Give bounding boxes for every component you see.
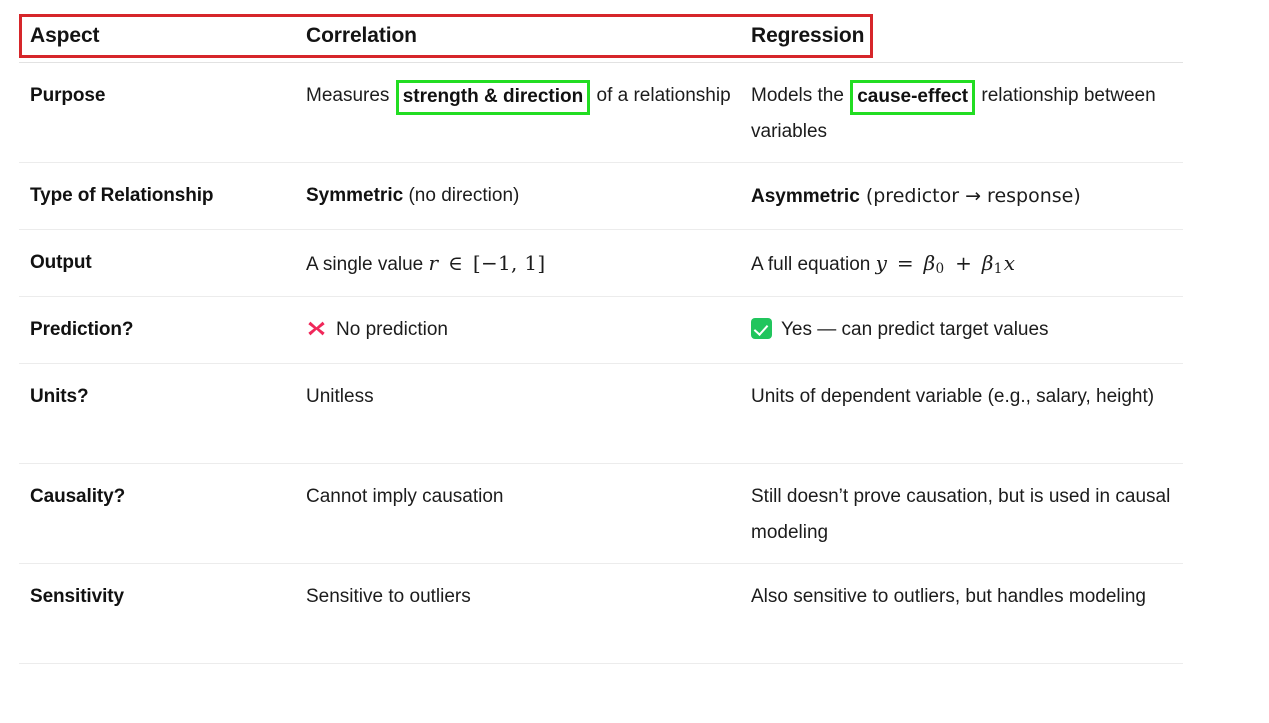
text-pre: Measures [306,85,395,106]
cell-correlation-type: Symmetric (no direction) [306,178,736,214]
math-regression-equation: y = β0 + β1x [876,251,1016,275]
row-label-prediction: Prediction? [30,312,300,348]
table-row: Output A single value r ∈ [−1, 1] A full… [19,230,1183,297]
table-row: Prediction? No prediction Yes — can pred… [19,297,1183,364]
cell-correlation-prediction: No prediction [306,312,736,348]
table-row: Units? Unitless Units of dependent varia… [19,364,1183,464]
cell-correlation-purpose: Measures strength & direction of a relat… [306,78,736,114]
cell-regression-sensitivity: Also sensitive to outliers, but handles … [751,579,1183,615]
cross-mark-icon [306,318,327,339]
page-root: Aspect Correlation Regression Purpose Me… [0,0,1269,723]
text-bold: Asymmetric [751,186,860,207]
cell-regression-units: Units of dependent variable (e.g., salar… [751,379,1183,415]
cell-correlation-sensitivity: Sensitive to outliers [306,579,736,615]
cell-correlation-units: Unitless [306,379,736,415]
cell-regression-causality: Still doesn’t prove causation, but is us… [751,479,1183,551]
row-label-causality: Causality? [30,479,300,515]
cell-regression-type: Asymmetric (predictor → response) [751,178,1183,215]
check-mark-button-icon [751,318,772,339]
row-label-output: Output [30,245,300,281]
text-yes-prediction: Yes — can predict target values [781,319,1049,340]
table-row: Purpose Measures strength & direction of… [19,63,1183,163]
header-red-highlight-box [19,14,873,58]
table-row: Causality? Cannot imply causation Still … [19,464,1183,564]
text-lead: A single value [306,254,429,275]
text-rest: (no direction) [403,185,519,206]
table-row: Sensitivity Sensitive to outliers Also s… [19,564,1183,664]
row-label-units: Units? [30,379,300,415]
row-label-type-of-relationship: Type of Relationship [30,178,300,214]
math-correlation-range: r ∈ [−1, 1] [429,251,546,275]
table-header-row: Aspect Correlation Regression [19,12,1183,63]
row-label-purpose: Purpose [30,78,300,114]
text-post: of a relationship [591,85,730,106]
cell-regression-output: A full equation y = β0 + β1x [751,245,1183,287]
column-header-regression: Regression [751,25,864,46]
text-no-prediction: No prediction [336,319,448,340]
column-header-aspect: Aspect [30,25,99,46]
comparison-table: Aspect Correlation Regression Purpose Me… [19,12,1183,664]
text-lead: A full equation [751,254,876,275]
text-rest: (predictor → response) [860,185,1081,207]
cell-correlation-output: A single value r ∈ [−1, 1] [306,245,736,283]
cell-regression-prediction: Yes — can predict target values [751,312,1183,348]
text-bold: Symmetric [306,185,403,206]
table-row: Type of Relationship Symmetric (no direc… [19,163,1183,230]
highlight-cause-effect: cause-effect [850,80,975,115]
row-label-sensitivity: Sensitivity [30,579,300,615]
highlight-strength-direction: strength & direction [396,80,591,115]
cell-correlation-causality: Cannot imply causation [306,479,736,515]
column-header-correlation: Correlation [306,25,417,46]
cell-regression-purpose: Models the cause-effect relationship bet… [751,78,1183,150]
text-pre: Models the [751,85,849,106]
